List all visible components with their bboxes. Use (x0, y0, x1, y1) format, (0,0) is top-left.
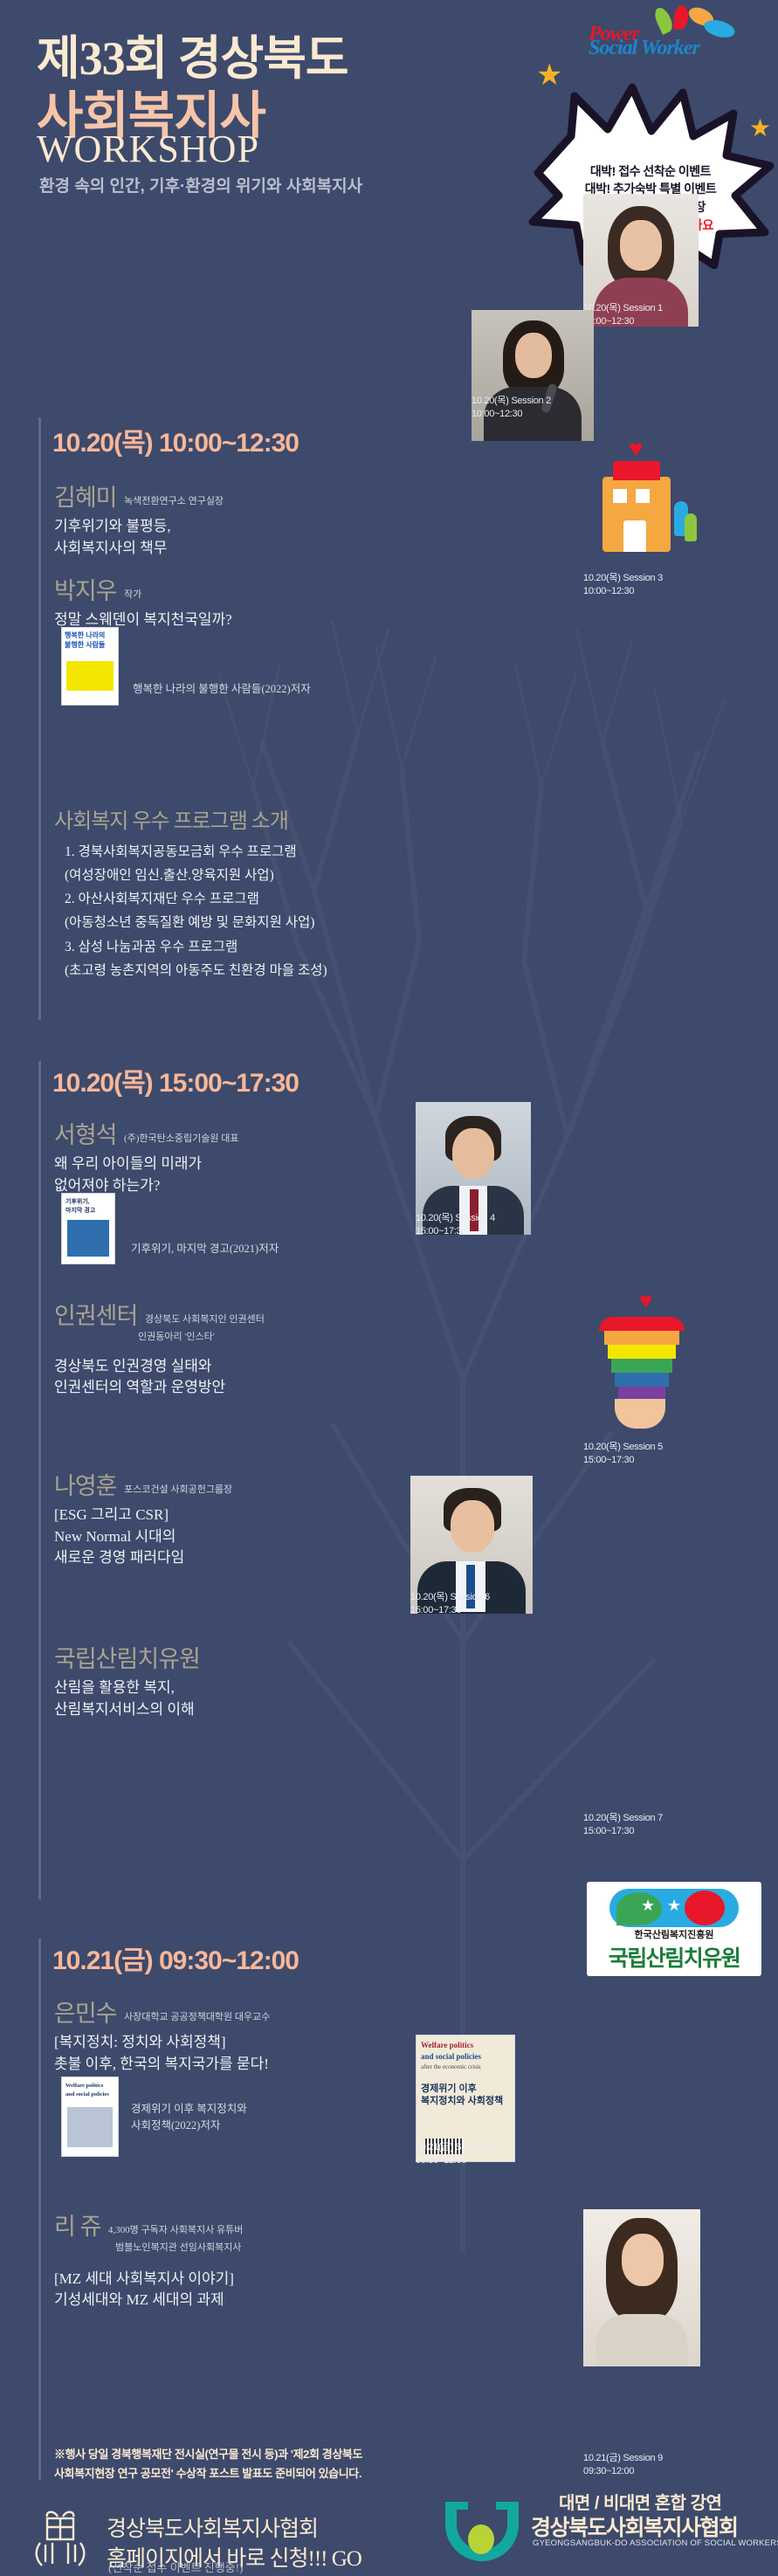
rainbow-band-green (611, 1359, 672, 1373)
footer-org-line3: (선착순 접수 이벤트 진행중!) (108, 2559, 243, 2575)
session-label-4: 10.20(목) Session 4 15:00~17:30 (416, 1212, 495, 1238)
book-cover-welfare-politics: Welfare politics and social policies (61, 2077, 119, 2157)
speaker-affiliation: (주)한국탄소중립기술원 대표 (120, 1133, 239, 1150)
power-social-worker-logo: Power Social Worker (587, 5, 761, 59)
rainbow-band-blue (615, 1373, 669, 1387)
footer-note: ※행사 당일 경북행복재단 전시실(연구물 전시 등)과 '제2회 경상북도 사… (54, 2445, 543, 2483)
book-cover-art (67, 1220, 109, 1257)
speaker-topic: [MZ 세대 사회복지사 이야기] 기성세대와 MZ 세대의 과제 (54, 2269, 243, 2311)
session-label-5: 10.20(목) Session 5 15:00~17:30 (583, 1441, 663, 1467)
forest-logo-sub: 한국산림복지진흥원 (587, 1927, 761, 1941)
book-cover-art (67, 2107, 113, 2147)
logo-star-white-1: ★ (641, 1898, 655, 1913)
footer-org-line1: 경상북도사회복지사협회 (107, 2511, 318, 2543)
speaker-block-park-jiwoo: 박지우 작가 정말 스웨덴이 복지천국일까? (54, 572, 232, 631)
speaker-block-forest-healing-center: 국립산림치유원 산림을 활용한 복지, 산림복지서비스의 이해 (54, 1640, 200, 1720)
logo-petal-blue (702, 17, 736, 41)
book-note-1: 행복한 나라의 불행한 사람들(2022)저자 (133, 679, 311, 696)
logo-petal-red (673, 4, 689, 30)
logo-star-white-2: ★ (667, 1898, 681, 1913)
speaker-topic: [복지정치: 정치와 사회정책] 촛불 이후, 한국의 복지국가를 묻다! (54, 2032, 270, 2075)
heart-icon-rainbow: ♥ (639, 1289, 652, 1312)
forest-logo-main: 국립산림치유원 (587, 1941, 761, 1973)
rainbow-band-orange (604, 1331, 679, 1345)
session-label-2: 10.20(목) Session 2 10:00~12:30 (472, 395, 551, 421)
logo-leaf-red (685, 1891, 725, 1925)
speaker-name: 나영훈 (54, 1467, 117, 1501)
book-title-ko-2: 복지정치와 사회정책 (421, 2093, 510, 2107)
speaker-affiliation: 녹색전환연구소 연구실장 (120, 495, 224, 513)
page-subtitle: 환경 속의 인간, 기후·환경의 위기와 사회복지사 (39, 175, 362, 200)
session-label-6: 10.20(목) Session 6 15:00~17:30 (410, 1591, 490, 1617)
day-heading-1: 10.20(목) 10:00~12:30 (52, 421, 299, 459)
session-label-3: 10.20(목) Session 3 10:00~12:30 (583, 572, 663, 598)
rainbow-band-red (599, 1317, 685, 1331)
speaker-affiliation: 4,300명 구독자 사회복지사 유튜버 (105, 2224, 243, 2242)
building-door (623, 520, 646, 552)
session-label-7: 10.20(목) Session 7 15:00~17:30 (583, 1812, 663, 1838)
book-title-en-1b: Welfare politics (421, 2041, 510, 2049)
building-illustration: ♥ (587, 437, 709, 576)
photo-face (452, 1128, 494, 1179)
speaker-topic: [ESG 그리고 CSR] New Normal 시대의 새로운 경영 패러다임 (54, 1505, 232, 1569)
speaker-block-seo-hyeongseok: 서형석 (주)한국탄소중립기술원 대표 왜 우리 아이들의 미래가 없어져야 하… (54, 1116, 239, 1196)
poster-root: 제33회 경상북도 사회복지사 WORKSHOP 환경 속의 인간, 기후·환경… (0, 0, 778, 2576)
star-icon-1: ★ (536, 58, 562, 93)
burst-line-1: 대박! 접수 선착순 이벤트 (536, 162, 765, 180)
speaker-topic: 기후위기와 불평등, 사회복지사의 책무 (54, 516, 224, 559)
rainbow-band-yellow (608, 1345, 676, 1359)
day-heading-3: 10.21(금) 09:30~12:00 (52, 1939, 299, 1977)
star-icon-2: ★ (749, 114, 771, 142)
person-figure-icon-2 (685, 513, 697, 541)
photo-face (622, 2234, 664, 2286)
speaker-block-na-younghoon: 나영훈 포스코건설 사회공헌그룹장 [ESG 그리고 CSR] New Norm… (54, 1467, 232, 1569)
speaker-name: 국립산림치유원 (54, 1640, 200, 1674)
session-label-1: 10.20(목) Session 1 10:00~12:30 (583, 302, 663, 328)
logo-leaf-green (616, 1892, 662, 1925)
book-cover-swatch (66, 661, 114, 691)
speaker-name: 박지우 (54, 572, 117, 606)
speaker-name: 인권센터 (54, 1297, 137, 1331)
photo-face (451, 1500, 494, 1553)
speaker-name: 은민수 (54, 1994, 117, 2028)
speaker-name: 서형석 (54, 1116, 117, 1150)
association-logo: 경상북도사회복지사협회 GYEONGSANGBUK-DO ASSOCIATION… (437, 2502, 768, 2565)
logo-text-social-worker: Social Worker (589, 37, 699, 60)
speaker-affiliation: 작가 (120, 589, 141, 606)
photo-face (515, 333, 552, 378)
speaker-topic: 경상북도 인권경영 실태와 인권센터의 역할과 운영방안 (54, 1356, 265, 1399)
speaker-block-eun-minsu: 은민수 사장대학교 공공정책대학원 대우교수 [복지정치: 정치와 사회정책] … (54, 1994, 270, 2075)
speaker-photo-lee-joo (583, 2209, 700, 2366)
logo-petal-green (651, 5, 675, 35)
book-title-bottom: 불행한 사람들 (65, 640, 115, 650)
session-label-9: 10.21(금) Session 9 09:30~12:00 (583, 2452, 663, 2478)
program-list: 1. 경북사회복지공동모금회 우수 프로그램 (여성장애인 임신.출산.양육지원… (65, 840, 327, 982)
hand-palm (615, 1399, 665, 1429)
photo-body (596, 2314, 688, 2366)
session-rule-2 (38, 1061, 41, 1899)
speaker-topic: 왜 우리 아이들의 미래가 없어져야 하는가? (54, 1154, 239, 1196)
speaker-affiliation-2: 인권동아리 '인스타' (54, 1331, 265, 1344)
speaker-block-kim-hyemi: 김혜미 녹색전환연구소 연구실장 기후위기와 불평등, 사회복지사의 책무 (54, 479, 224, 559)
speaker-block-lee-joo: 리 쥬 4,300명 구독자 사회복지사 유튜버 범블노인복지관 선임사회복지사… (54, 2208, 243, 2311)
speaker-affiliation-2: 범블노인복지관 선임사회복지사 (54, 2242, 243, 2255)
page-title-line3: WORKSHOP (37, 127, 259, 171)
gift-hands-svg (26, 2508, 94, 2569)
assoc-logo-bar-right (496, 2502, 519, 2510)
assoc-logo-dot (468, 2524, 494, 2554)
speaker-topic: 산림을 활용한 복지, 산림복지서비스의 이해 (54, 1677, 200, 1720)
forest-healing-center-logo: ★ ★ 한국산림복지진흥원 국립산림치유원 (587, 1882, 761, 1976)
speaker-photo-park-jiwoo (472, 310, 594, 441)
session-rule-3 (38, 1939, 41, 2480)
book-title-en-1: Welfare politics (65, 2083, 114, 2089)
photo-face (620, 220, 662, 271)
rainbow-hand-illustration: ♥ (583, 1301, 714, 1432)
book-cover-happy-country: 행복한 나라의 불행한 사람들 (61, 627, 119, 706)
speaker-affiliation: 포스코건설 사회공헌그룹장 (120, 1484, 232, 1501)
program-section-heading: 사회복지 우수 프로그램 소개 (54, 803, 288, 834)
speaker-affiliation: 경상북도 사회복지인 인권센터 (141, 1313, 265, 1331)
session-label-8: 10.21(금) Session 8 09:30~12:00 (416, 2141, 495, 2167)
building-roof (613, 461, 660, 480)
building-window-1 (613, 489, 627, 503)
session-rule-1 (38, 417, 41, 1020)
gift-hands-icon (26, 2508, 94, 2569)
book-title-top: 행복한 나라의 (65, 630, 115, 640)
book-title-en-2: and social policies (65, 2091, 114, 2097)
building-window-2 (636, 489, 650, 503)
book-title: 기후위기, 마지막 경고 (65, 1197, 111, 1215)
speaker-name: 김혜미 (54, 479, 117, 513)
book-title-en-3b: after the economic crisis (421, 2063, 510, 2070)
speaker-affiliation: 사장대학교 공공정책대학원 대우교수 (120, 2011, 270, 2028)
assoc-name-en: GYEONGSANGBUK-DO ASSOCIATION OF SOCIAL W… (533, 2538, 778, 2548)
day-heading-2: 10.20(목) 15:00~17:30 (52, 1061, 299, 1099)
assoc-name-ko: 경상북도사회복지사협회 (531, 2511, 738, 2542)
book-cover-climate-warning: 기후위기, 마지막 경고 (61, 1193, 115, 1264)
book-note-2: 기후위기, 마지막 경고(2021)저자 (131, 1239, 279, 1256)
book-title-en-2b: and social policies (421, 2052, 510, 2061)
assoc-logo-bar-left (445, 2502, 468, 2510)
speaker-name: 리 쥬 (54, 2208, 100, 2242)
book-note-3: 경제위기 이후 복지정치와 사회정책(2022)저자 (131, 2101, 247, 2135)
speaker-block-human-rights-center: 인권센터 경상북도 사회복지인 인권센터 인권동아리 '인스타' 경상북도 인권… (54, 1297, 265, 1399)
